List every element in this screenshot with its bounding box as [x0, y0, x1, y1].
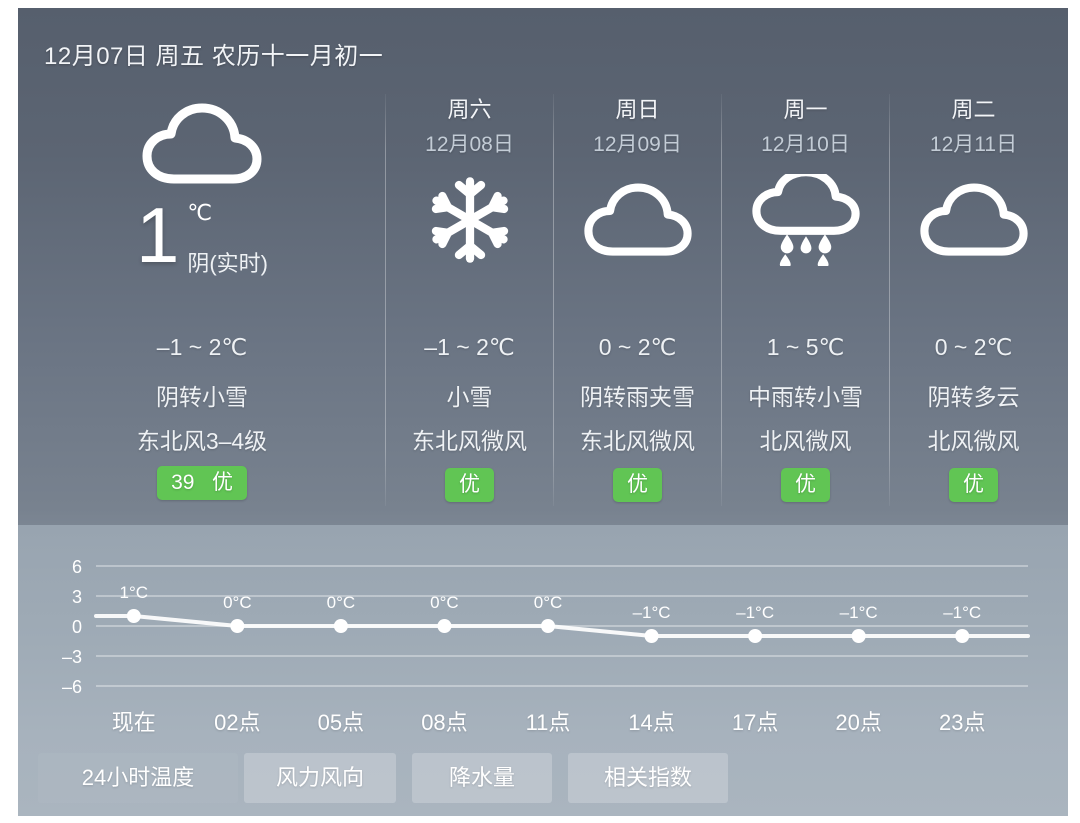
forecast-aqi-wrap: 优: [890, 468, 1057, 502]
forecast-date: 12月10日: [722, 128, 889, 158]
chart-x-label: 02点: [182, 705, 292, 737]
forecast-description: 阴转雨夹雪: [554, 378, 721, 412]
today-temperature: 1: [136, 196, 179, 274]
snowflake-icon: [386, 174, 553, 266]
today-aqi-value: 39: [171, 471, 194, 494]
forecast-description: 中雨转小雪: [722, 378, 889, 412]
cloud-icon: [554, 174, 721, 266]
today-aqi-wrap: 39 优: [18, 466, 386, 500]
weather-widget: 12月07日 周五 农历十一月初一 1 ℃ 阴(实时) –1 ~ 2℃ 阴转小雪…: [18, 8, 1068, 816]
forecast-weekday: 周二: [890, 92, 1057, 124]
forecast-band: 12月07日 周五 农历十一月初一 1 ℃ 阴(实时) –1 ~ 2℃ 阴转小雪…: [18, 8, 1068, 525]
chart-x-axis: 现在02点05点08点11点14点17点20点23点: [18, 705, 1068, 751]
status-badge[interactable]: 优: [781, 468, 830, 502]
forecast-weekday: 周一: [722, 92, 889, 124]
svg-text:–1°C: –1°C: [736, 603, 774, 622]
forecast-wind: 东北风微风: [386, 422, 553, 456]
forecast-description: 小雪: [386, 378, 553, 412]
chart-x-label: 05点: [286, 705, 396, 737]
hourly-chart-panel: 630–3–61°C0°C0°C0°C0°C–1°C–1°C–1°C–1°C 现…: [18, 525, 1068, 816]
forecast-range: 1 ~ 5℃: [722, 334, 889, 361]
svg-text:0°C: 0°C: [223, 593, 252, 612]
svg-text:0°C: 0°C: [327, 593, 356, 612]
forecast-description: 阴转多云: [890, 378, 1057, 412]
forecast-date: 12月09日: [554, 128, 721, 158]
chart-x-label: 现在: [79, 705, 189, 737]
rain-cloud-icon: [722, 174, 889, 266]
today-range: –1 ~ 2℃: [18, 334, 386, 361]
svg-text:–1°C: –1°C: [840, 603, 878, 622]
tab-0[interactable]: 24小时温度: [38, 753, 238, 803]
status-badge[interactable]: 39 优: [157, 466, 247, 500]
svg-text:0: 0: [72, 617, 82, 637]
svg-text:1°C: 1°C: [120, 583, 149, 602]
today-wind: 东北风3–4级: [18, 422, 386, 456]
forecast-day-0[interactable]: 周六 12月08日 –1 ~ 2℃: [386, 86, 553, 516]
forecast-range: 0 ~ 2℃: [554, 334, 721, 361]
chart-x-label: 14点: [597, 705, 707, 737]
cloud-icon: [18, 98, 386, 190]
forecast-day-2[interactable]: 周一 12月10日 1 ~ 5℃ 中雨转小雪 北风微风 优: [722, 86, 889, 516]
tab-3[interactable]: 相关指数: [568, 753, 728, 803]
temperature-line-chart[interactable]: 630–3–61°C0°C0°C0°C0°C–1°C–1°C–1°C–1°C: [18, 525, 1068, 715]
chart-x-label: 20点: [804, 705, 914, 737]
forecast-weekday: 周六: [386, 92, 553, 124]
chart-x-label: 17点: [700, 705, 810, 737]
forecast-wind: 东北风微风: [554, 422, 721, 456]
tab-bar: 24小时温度风力风向降水量相关指数: [18, 753, 1068, 815]
tab-1[interactable]: 风力风向: [244, 753, 396, 803]
forecast-date: 12月08日: [386, 128, 553, 158]
svg-text:0°C: 0°C: [534, 593, 563, 612]
today-temperature-meta: ℃ 阴(实时): [187, 196, 268, 278]
forecast-aqi-wrap: 优: [554, 468, 721, 502]
today-panel[interactable]: 1 ℃ 阴(实时) –1 ~ 2℃ 阴转小雪 东北风3–4级 39 优: [18, 86, 386, 516]
chart-x-label: 11点: [493, 705, 603, 737]
svg-text:–1°C: –1°C: [943, 603, 981, 622]
svg-text:–6: –6: [62, 677, 82, 697]
svg-text:–1°C: –1°C: [633, 603, 671, 622]
forecast-aqi-wrap: 优: [386, 468, 553, 502]
forecast-range: 0 ~ 2℃: [890, 334, 1057, 361]
today-temperature-row: 1 ℃ 阴(实时): [18, 196, 386, 292]
forecast-range: –1 ~ 2℃: [386, 334, 553, 361]
chart-x-label: 08点: [389, 705, 499, 737]
svg-text:3: 3: [72, 587, 82, 607]
status-badge[interactable]: 优: [445, 468, 494, 502]
forecast-wind: 北风微风: [890, 422, 1057, 456]
forecast-day-3[interactable]: 周二 12月11日 0 ~ 2℃ 阴转多云 北风微风 优: [890, 86, 1057, 516]
today-condition: 阴(实时): [187, 246, 268, 278]
today-aqi-level: 优: [212, 471, 233, 494]
svg-text:0°C: 0°C: [430, 593, 459, 612]
status-badge[interactable]: 优: [949, 468, 998, 502]
svg-text:6: 6: [72, 557, 82, 577]
page-title: 12月07日 周五 农历十一月初一: [44, 36, 383, 71]
forecast-day-1[interactable]: 周日 12月09日 0 ~ 2℃ 阴转雨夹雪 东北风微风 优: [554, 86, 721, 516]
tab-2[interactable]: 降水量: [412, 753, 552, 803]
svg-text:–3: –3: [62, 647, 82, 667]
chart-x-label: 23点: [907, 705, 1017, 737]
today-unit: ℃: [187, 202, 268, 224]
forecast-wind: 北风微风: [722, 422, 889, 456]
forecast-weekday: 周日: [554, 92, 721, 124]
forecast-date: 12月11日: [890, 128, 1057, 158]
cloud-icon: [890, 174, 1057, 266]
status-badge[interactable]: 优: [613, 468, 662, 502]
forecast-aqi-wrap: 优: [722, 468, 889, 502]
today-description: 阴转小雪: [18, 378, 386, 412]
